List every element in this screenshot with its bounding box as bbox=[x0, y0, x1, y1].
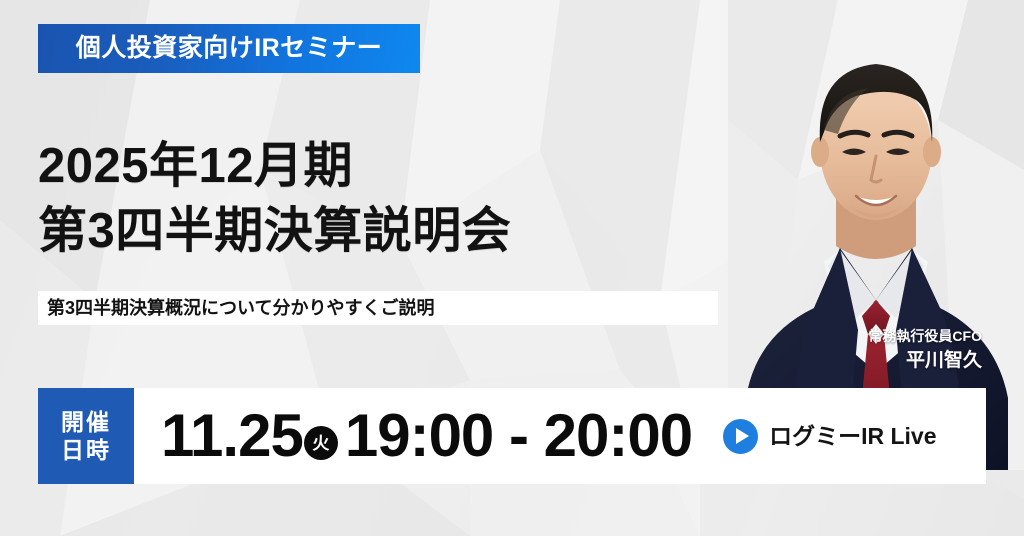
speaker-name: 平川智久 bbox=[868, 347, 982, 376]
datetime-label-tag: 開催 日時 bbox=[38, 388, 134, 484]
brand-name: ログミーIR Live bbox=[769, 425, 936, 448]
subtitle-bar: 第3四半期決算概況について分かりやすくご説明 bbox=[38, 291, 718, 325]
event-time-range: 19:00 - 20:00 bbox=[345, 406, 692, 466]
page-title: 2025年12月期 第3四半期決算説明会 bbox=[38, 134, 738, 263]
event-datetime-bar: 開催 日時 11.25 火 19:00 - 20:00 ログミーIR Live bbox=[38, 388, 986, 484]
subtitle-text: 第3四半期決算概況について分かりやすくご説明 bbox=[47, 299, 434, 317]
title-line-2: 第3四半期決算説明会 bbox=[38, 199, 738, 264]
datetime-label-line-1: 開催 bbox=[61, 411, 111, 434]
title-line-1: 2025年12月期 bbox=[38, 134, 738, 199]
datetime-content: 11.25 火 19:00 - 20:00 ログミーIR Live bbox=[134, 388, 986, 484]
speaker-role: 常務執行役員CFO bbox=[868, 326, 982, 347]
seminar-category-badge: 個人投資家向けIRセミナー bbox=[38, 24, 420, 73]
play-circle-icon bbox=[723, 419, 758, 454]
event-date: 11.25 bbox=[161, 406, 303, 466]
datetime-label-line-2: 日時 bbox=[61, 439, 111, 462]
play-triangle-icon bbox=[736, 428, 749, 444]
day-of-week-badge: 火 bbox=[304, 426, 338, 460]
brand-logo[interactable]: ログミーIR Live bbox=[723, 419, 936, 454]
speaker-caption: 常務執行役員CFO 平川智久 bbox=[868, 326, 982, 376]
ir-seminar-banner: 常務執行役員CFO 平川智久 個人投資家向けIRセミナー 2025年12月期 第… bbox=[0, 0, 1024, 536]
seminar-category-label: 個人投資家向けIRセミナー bbox=[76, 36, 383, 61]
